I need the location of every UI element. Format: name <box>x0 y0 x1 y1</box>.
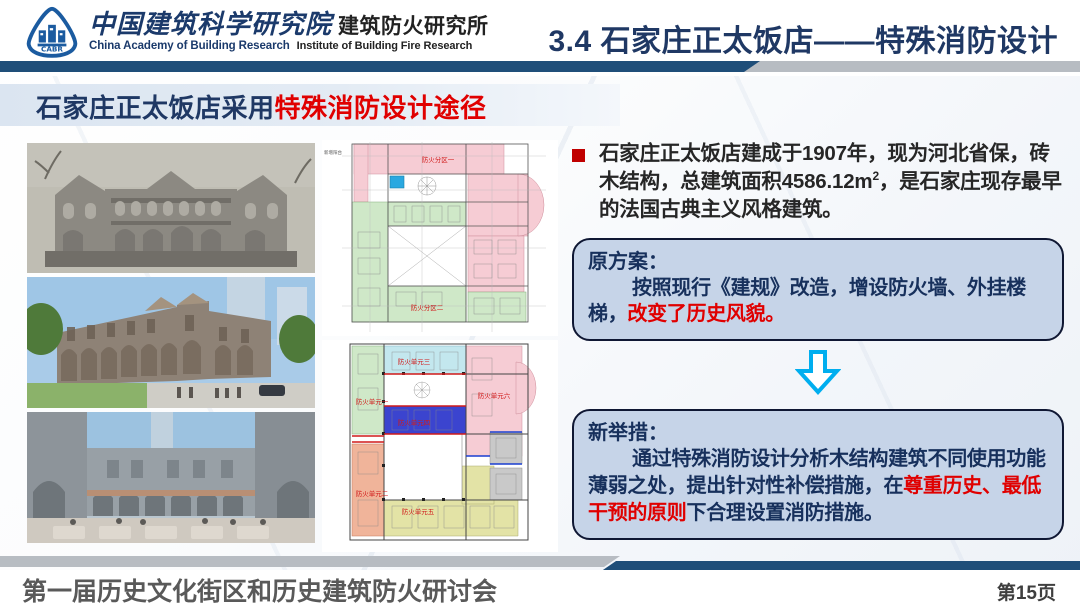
transition-arrow <box>572 349 1064 395</box>
org-dept-cn: 建筑防火研究所 <box>338 16 489 37</box>
org-name-cn: 中国建筑科学研究院 <box>89 12 332 38</box>
plan-label-unit-4: 防火单元四 <box>398 418 431 427</box>
new-measures-box: 新举措： 通过特殊消防设计分析木结构建筑不同使用功能薄弱之处，提出针对性补偿措施… <box>572 409 1064 539</box>
subtitle-highlight: 特殊消防设计途径 <box>275 93 487 123</box>
footer-conference-name: 第一届历史文化街区和历史建筑防火研讨会 <box>22 572 497 608</box>
plan-label-unit-5: 防火单元五 <box>402 507 435 516</box>
fire-compartment-plan-drawing: 防火分区一 防火分区二 新增阳台 <box>322 140 558 336</box>
original-plan-line-1: 按照现行《建规》改造，增设防火墙、 <box>632 277 967 299</box>
square-bullet-icon <box>572 149 585 162</box>
photo-column <box>27 143 315 543</box>
plan-label-unit-3: 防火单元三 <box>398 357 431 366</box>
page-title: 3.4 石家庄正太饭店——特殊消防设计 <box>548 16 1058 60</box>
subtitle-normal: 石家庄正太饭店采用 <box>36 93 275 123</box>
plan-label-unit-1: 防火单元一 <box>356 397 389 406</box>
down-arrow-icon <box>795 349 841 395</box>
original-plan-title: 原方案： <box>588 249 1050 275</box>
courtyard-rendering <box>27 412 315 543</box>
plan-label-compartment-2: 防火分区二 <box>411 303 444 312</box>
header-band-navy <box>0 61 760 72</box>
intro-bullet: 石家庄正太饭店建成于1907年，现为河北省保，砖木结构，总建筑面积4586.12… <box>572 140 1064 224</box>
fire-compartment-plan: 防火分区一 防火分区二 新增阳台 <box>322 140 558 336</box>
plan-label-compartment-1: 防火分区一 <box>422 155 455 164</box>
exterior-rendering <box>27 277 315 408</box>
slide-canvas: CABR 中国建筑科学研究院 建筑防火研究所 China Academy of … <box>0 0 1080 607</box>
footer-page-number: 第15页 <box>997 578 1056 605</box>
original-plan-highlight: 改变了历史风貌。 <box>627 303 785 325</box>
subtitle-text: 石家庄正太饭店采用特殊消防设计途径 <box>36 88 487 125</box>
new-measures-line-3: 下合理设置消防措施。 <box>687 502 884 524</box>
footer-band-gray <box>0 556 620 567</box>
organization-logo: CABR 中国建筑科学研究院 建筑防火研究所 China Academy of … <box>24 6 489 58</box>
intro-bullet-text: 石家庄正太饭店建成于1907年，现为河北省保，砖木结构，总建筑面积4586.12… <box>599 140 1064 224</box>
plan-label-unit-2: 防火单元二 <box>356 489 389 498</box>
original-plan-body: 按照现行《建规》改造，增设防火墙、外挂楼梯，改变了历史风貌。 <box>588 275 1050 329</box>
org-dept-en: Institute of Building Fire Research <box>297 41 473 52</box>
floorplan-column: 防火分区一 防火分区二 新增阳台 <box>322 140 558 552</box>
plan-label-unit-6: 防火单元六 <box>478 391 511 400</box>
svg-text:CABR: CABR <box>41 44 63 53</box>
header-divider-band <box>0 61 1080 75</box>
intro-line-2b: ，是 <box>879 170 920 193</box>
fire-unit-plan-drawing: 防火单元一 防火单元二 防火单元三 防火单元四 防火单元五 防火单元六 <box>322 340 558 552</box>
new-measures-body: 通过特殊消防设计分析木结构建筑不同使用功能薄弱之处，提出针对性补偿措施，在尊重历… <box>588 446 1050 526</box>
intro-line-1: 石家庄正太饭店建成于1907年，现为河北省 <box>599 142 989 165</box>
original-plan-box: 原方案： 按照现行《建规》改造，增设防火墙、外挂楼梯，改变了历史风貌。 <box>572 238 1064 342</box>
fire-unit-plan: 防火单元一 防火单元二 防火单元三 防火单元四 防火单元五 防火单元六 <box>322 340 558 552</box>
new-measures-title: 新举措： <box>588 420 1050 446</box>
plan-note-text: 新增阳台 <box>324 149 342 156</box>
new-measures-highlight-1: 尊 <box>903 475 923 497</box>
new-measures-line-1: 通过特殊消防设计分析木结构建筑不同使 <box>632 448 987 470</box>
historic-photo <box>27 143 315 273</box>
org-name-en: China Academy of Building Research <box>89 41 290 53</box>
right-content-column: 石家庄正太饭店建成于1907年，现为河北省保，砖木结构，总建筑面积4586.12… <box>572 140 1064 540</box>
cabr-shield-logo-icon: CABR <box>24 6 80 58</box>
